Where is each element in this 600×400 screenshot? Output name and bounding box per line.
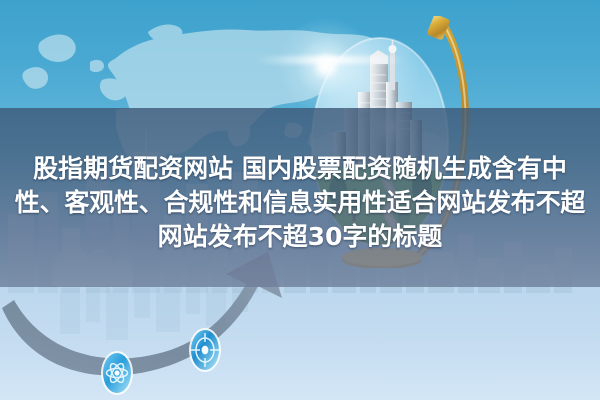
headline-line-1: 股指期货配资网站 国内股票配资随机生成含有中 <box>0 152 600 186</box>
headline-line-3: 网站发布不超30字的标题 <box>0 220 600 254</box>
banner-headline: 股指期货配资网站 国内股票配资随机生成含有中 性、客观性、合规性和信息实用性适合… <box>0 152 600 254</box>
target-icon <box>188 327 222 373</box>
atom-icon <box>100 350 134 396</box>
banner-image: 股指期货配资网站 国内股票配资随机生成含有中 性、客观性、合规性和信息实用性适合… <box>0 0 600 400</box>
headline-line-2: 性、客观性、合规性和信息实用性适合网站发布不超 <box>0 186 600 220</box>
